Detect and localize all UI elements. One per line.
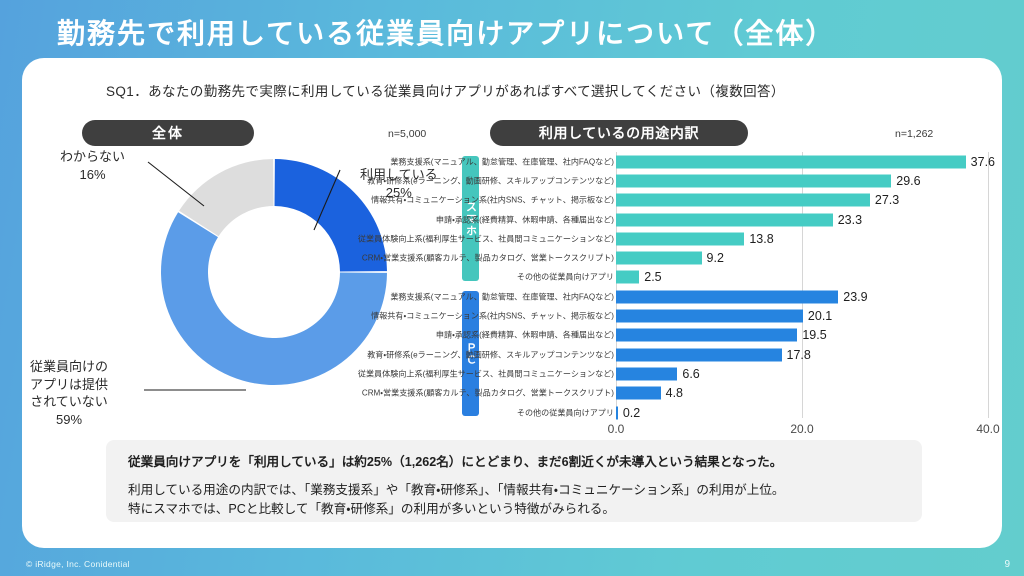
bar [616,271,639,284]
bar-track: 20.1 [616,306,988,325]
bar-track: 19.5 [616,326,988,345]
bar-track: 2.5 [616,268,988,287]
bar-category-label: 情報共有・コミュニケーション系(社内SNS、チャット、掲示板など) [371,195,614,206]
bar-track: 9.2 [616,248,988,267]
bar-row: その他の従業員向けアプリ0.2 [486,403,990,422]
bar-category-label: 申請・承認系(経費精算、休暇申請、各種届出など) [436,214,614,225]
bar-row: 業務支援系(マニュアル、勤怠管理、在庫管理、社内FAQなど)23.9 [486,287,990,306]
bar-track: 27.3 [616,191,988,210]
bar [616,174,891,187]
bar [616,310,803,323]
bar [616,213,833,226]
bar-category-label: 申請・承認系(経費精算、休暇申請、各種届出など) [436,330,614,341]
bar-category-label: 業務支援系(マニュアル、勤怠管理、在庫管理、社内FAQなど) [390,156,614,167]
bar-row: 教育・研修系(eラーニング、動画研修、スキルアップコンテンツなど)29.6 [486,171,990,190]
bar-track: 17.8 [616,345,988,364]
bar-row: 申請・承認系(経費精算、休暇申請、各種届出など)19.5 [486,326,990,345]
bar-value-label: 6.6 [677,367,699,381]
bar-value-label: 0.2 [618,406,640,420]
bar-category-label: その他の従業員向けアプリ [517,272,614,283]
footer-copyright: © iRidge, Inc. Conidential [26,559,130,569]
bar-track: 13.8 [616,229,988,248]
bar-category-label: 従業員体験向上系(福利厚生サービス、社員間コミュニケーションなど) [358,368,614,379]
bar-row: CRM・営業支援系(顧客カルテ、製品カタログ、営業トークスクリプト)9.2 [486,248,990,267]
bar-value-label: 37.6 [966,155,995,169]
bar-value-label: 4.8 [661,386,683,400]
bar-row: 情報共有・コミュニケーション系(社内SNS、チャット、掲示板など)27.3 [486,191,990,210]
bar-row: 教育・研修系(eラーニング、動画研修、スキルアップコンテンツなど)17.8 [486,345,990,364]
summary-line-2: 利用している用途の内訳では、「業務支援系」や「教育・研修系」、「情報共有・コミュ… [128,481,900,500]
bar-row: その他の従業員向けアプリ2.5 [486,268,990,287]
bar-value-label: 23.3 [833,213,862,227]
sample-size-breakdown: n=1,262 [895,128,933,140]
bar-value-label: 20.1 [803,309,832,323]
x-axis-tick: 0.0 [608,422,625,436]
bar-category-label: その他の従業員向けアプリ [517,407,614,418]
x-axis-tick: 40.0 [976,422,999,436]
bar [616,194,870,207]
bar-value-label: 9.2 [702,251,724,265]
bar [616,252,702,265]
bar-value-label: 13.8 [744,232,773,246]
bar [616,387,661,400]
bar-rows: 業務支援系(マニュアル、勤怠管理、在庫管理、社内FAQなど)37.6教育・研修系… [486,152,990,422]
bar-track: 4.8 [616,384,988,403]
bar-track: 29.6 [616,171,988,190]
bar-value-label: 17.8 [782,348,811,362]
bar-category-label: 業務支援系(マニュアル、勤怠管理、在庫管理、社内FAQなど) [390,291,614,302]
x-axis-tick: 20.0 [790,422,813,436]
bar-category-label: CRM・営業支援系(顧客カルテ、製品カタログ、営業トークスクリプト) [362,253,614,264]
slide-card: SQ1．あなたの勤務先で実際に利用している従業員向けアプリがあればすべて選択して… [22,58,1002,548]
summary-line-1: 従業員向けアプリを「利用している」は約25%（1,262名）にとどまり、まだ6割… [128,453,900,472]
bar-row: 業務支援系(マニュアル、勤怠管理、在庫管理、社内FAQなど)37.6 [486,152,990,171]
bar-row: 申請・承認系(経費精算、休暇申請、各種届出など)23.3 [486,210,990,229]
bar-value-label: 27.3 [870,193,899,207]
bar-category-label: 従業員体験向上系(福利厚生サービス、社員間コミュニケーションなど) [358,233,614,244]
badge-usage-breakdown: 利用しているの用途内訳 [490,120,748,146]
bar-category-label: CRM・営業支援系(顧客カルテ、製品カタログ、営業トークスクリプト) [362,388,614,399]
bar-value-label: 2.5 [639,270,661,284]
summary-box: 従業員向けアプリを「利用している」は約25%（1,262名）にとどまり、まだ6割… [106,440,922,522]
bar [616,155,966,168]
summary-line-3: 特にスマホでは、PCと比較して「教育・研修系」の利用が多いという特徴がみられる。 [128,500,900,519]
bar-track: 37.6 [616,152,988,171]
bar [616,290,838,303]
bar [616,348,782,361]
bar-value-label: 23.9 [838,290,867,304]
bar-track: 23.9 [616,287,988,306]
bar-category-label: 情報共有・コミュニケーション系(社内SNS、チャット、掲示板など) [371,311,614,322]
bar-value-label: 29.6 [891,174,920,188]
bar-row: 情報共有・コミュニケーション系(社内SNS、チャット、掲示板など)20.1 [486,306,990,325]
bar-row: 従業員体験向上系(福利厚生サービス、社員間コミュニケーションなど)13.8 [486,229,990,248]
bar [616,232,744,245]
bar-track: 0.2 [616,403,988,422]
x-axis: 0.020.040.0 [616,422,996,438]
usage-bar-chart: スマホ ＰＣ 業務支援系(マニュアル、勤怠管理、在庫管理、社内FAQなど)37.… [440,150,990,450]
bar-category-label: 教育・研修系(eラーニング、動画研修、スキルアップコンテンツなど) [367,175,614,186]
bar [616,329,797,342]
bar-value-label: 19.5 [797,328,826,342]
page-title: 勤務先で利用している従業員向けアプリについて（全体） [57,12,835,52]
footer-page-number: 9 [1004,559,1010,570]
bar-row: 従業員体験向上系(福利厚生サービス、社員間コミュニケーションなど)6.6 [486,364,990,383]
bar-track: 23.3 [616,210,988,229]
bar-track: 6.6 [616,364,988,383]
bar-row: CRM・営業支援系(顧客カルテ、製品カタログ、営業トークスクリプト)4.8 [486,384,990,403]
bar-category-label: 教育・研修系(eラーニング、動画研修、スキルアップコンテンツなど) [367,349,614,360]
bar [616,367,677,380]
